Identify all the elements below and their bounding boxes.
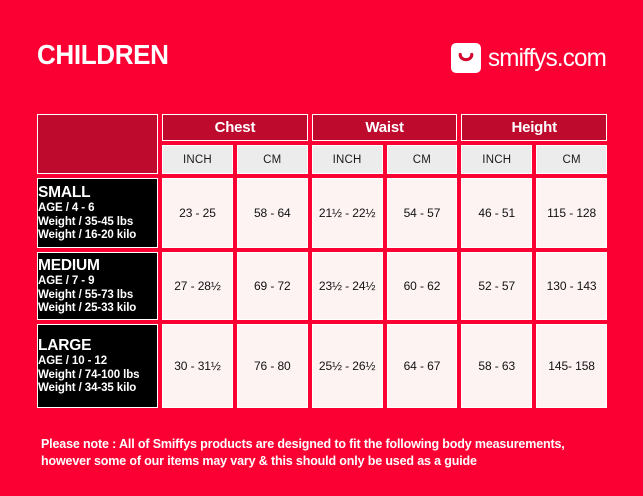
unit-header-chest-inch: INCH	[162, 145, 233, 174]
cell-height-cm: 130 - 143	[536, 252, 607, 320]
cell-chest-inch: 23 - 25	[162, 178, 233, 248]
unit-header-chest-cm: CM	[237, 145, 308, 174]
cell-waist-cm: 64 - 67	[387, 324, 458, 408]
cell-height-cm: 145- 158	[536, 324, 607, 408]
size-weight-lbs: Weight / 55-73 lbs	[38, 289, 157, 302]
size-name: LARGE	[38, 337, 157, 355]
unit-header-waist-inch: INCH	[312, 145, 383, 174]
size-name: MEDIUM	[38, 257, 157, 275]
cell-chest-cm: 58 - 64	[237, 178, 308, 248]
cell-waist-inch: 21½ - 22½	[312, 178, 383, 248]
brand-name: smiffys.com	[488, 46, 606, 71]
size-age: AGE / 4 - 6	[38, 202, 157, 215]
size-weight-kilo: Weight / 25-33 kilo	[38, 302, 157, 315]
cell-height-inch: 52 - 57	[461, 252, 532, 320]
group-header-row: Chest Waist Height	[37, 114, 607, 141]
chart-header: CHILDREN smiffys.com	[0, 0, 643, 104]
table-row: MEDIUM AGE / 7 - 9 Weight / 55-73 lbs We…	[37, 252, 607, 320]
cell-chest-inch: 27 - 28½	[162, 252, 233, 320]
size-label-medium: MEDIUM AGE / 7 - 9 Weight / 55-73 lbs We…	[37, 252, 158, 320]
size-weight-kilo: Weight / 16-20 kilo	[38, 229, 157, 242]
group-header-chest: Chest	[162, 114, 308, 141]
size-chart-sheet: CHILDREN smiffys.com Chest Waist Height	[0, 0, 643, 496]
page-title: CHILDREN	[37, 41, 169, 69]
corner-cell	[37, 114, 158, 174]
unit-header-waist-cm: CM	[387, 145, 458, 174]
cell-waist-inch: 25½ - 26½	[312, 324, 383, 408]
cell-waist-inch: 23½ - 24½	[312, 252, 383, 320]
cell-chest-cm: 76 - 80	[237, 324, 308, 408]
size-name: SMALL	[38, 184, 157, 202]
table-row: SMALL AGE / 4 - 6 Weight / 35-45 lbs Wei…	[37, 178, 607, 248]
footnote: Please note : All of Smiffys products ar…	[41, 436, 601, 470]
group-header-height: Height	[461, 114, 607, 141]
cell-chest-inch: 30 - 31½	[162, 324, 233, 408]
size-age: AGE / 7 - 9	[38, 275, 157, 288]
size-weight-lbs: Weight / 35-45 lbs	[38, 216, 157, 229]
group-header-waist: Waist	[312, 114, 458, 141]
table-body: SMALL AGE / 4 - 6 Weight / 35-45 lbs Wei…	[37, 178, 607, 408]
size-age: AGE / 10 - 12	[38, 355, 157, 368]
size-label-small: SMALL AGE / 4 - 6 Weight / 35-45 lbs Wei…	[37, 178, 158, 248]
size-chart-table: Chest Waist Height INCH CM INCH CM INCH …	[33, 110, 611, 412]
size-label-large: LARGE AGE / 10 - 12 Weight / 74-100 lbs …	[37, 324, 158, 408]
size-weight-kilo: Weight / 34-35 kilo	[38, 382, 157, 395]
table-row: LARGE AGE / 10 - 12 Weight / 74-100 lbs …	[37, 324, 607, 408]
footnote-line-1: Please note : All of Smiffys products ar…	[41, 436, 601, 453]
cell-chest-cm: 69 - 72	[237, 252, 308, 320]
cell-waist-cm: 60 - 62	[387, 252, 458, 320]
table-head: Chest Waist Height INCH CM INCH CM INCH …	[37, 114, 607, 174]
cell-height-cm: 115 - 128	[536, 178, 607, 248]
brand-logo: smiffys.com	[451, 42, 610, 74]
smile-mark-icon	[451, 43, 481, 73]
unit-header-height-inch: INCH	[461, 145, 532, 174]
cell-waist-cm: 54 - 57	[387, 178, 458, 248]
size-weight-lbs: Weight / 74-100 lbs	[38, 369, 157, 382]
cell-height-inch: 46 - 51	[461, 178, 532, 248]
unit-header-height-cm: CM	[536, 145, 607, 174]
cell-height-inch: 58 - 63	[461, 324, 532, 408]
footnote-line-2: however some of our items may vary & thi…	[41, 453, 601, 470]
